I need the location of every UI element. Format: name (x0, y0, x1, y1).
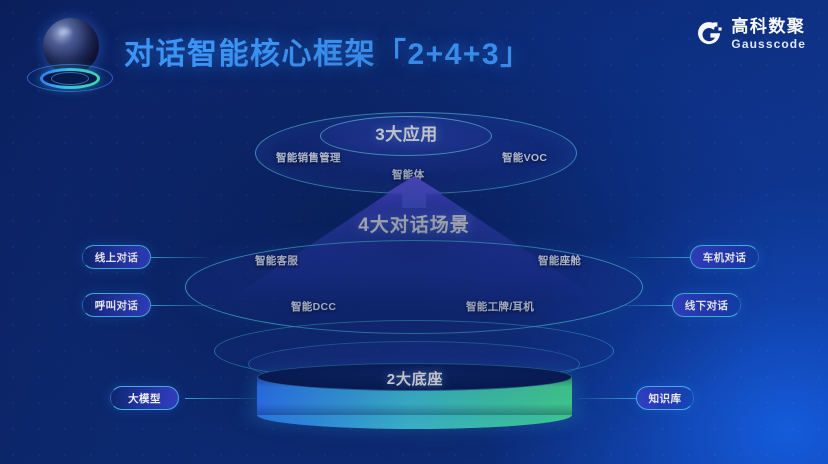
side-label-call-dialog[interactable]: 呼叫对话 (82, 293, 151, 317)
application-label-voc: 智能VOC (502, 150, 547, 165)
sphere-ring-inner (51, 72, 89, 85)
foundation-title: 2大底座 (335, 368, 495, 389)
scenario-label-customer-service: 智能客服 (255, 253, 298, 268)
connector-line-call (151, 305, 215, 306)
sphere-highlight (56, 26, 73, 37)
page-title: 对话智能核心框架「2+4+3」 (124, 29, 532, 73)
gausscode-logo-mark-icon (694, 19, 724, 49)
connector-line-online (151, 257, 207, 258)
scenario-label-badge-headset: 智能工牌/耳机 (466, 299, 534, 314)
side-label-knowledge-base[interactable]: 知识库 (636, 386, 694, 410)
slide-header: 对话智能核心框架「2+4+3」 高科数聚 Gausscode (0, 0, 828, 104)
connector-line-vehicle (628, 257, 690, 258)
scenarios-title: 4大对话场景 (334, 210, 494, 237)
brand-name-cn: 高科数聚 (731, 18, 806, 35)
connector-line-llm (185, 398, 257, 399)
glowing-sphere-icon (27, 16, 113, 98)
brand-logo-text: 高科数聚 Gausscode (731, 18, 806, 50)
side-label-large-model[interactable]: 大模型 (110, 386, 179, 410)
foundation-cylinder: 2大底座 (257, 363, 572, 429)
connector-line-knowledge (578, 398, 636, 399)
scenario-label-cockpit: 智能座舱 (538, 253, 581, 268)
slide-canvas: 对话智能核心框架「2+4+3」 高科数聚 Gausscode 3大应用 智能销售… (0, 0, 828, 464)
application-label-sales: 智能销售管理 (276, 150, 341, 165)
side-label-online-dialog[interactable]: 线上对话 (82, 245, 151, 269)
side-label-vehicle-dialog[interactable]: 车机对话 (690, 245, 759, 269)
scenario-label-dcc: 智能DCC (291, 299, 336, 314)
connector-line-offline (618, 305, 672, 306)
brand-name-en: Gausscode (731, 38, 806, 50)
applications-title: 3大应用 (349, 120, 464, 145)
brand-logo: 高科数聚 Gausscode (694, 18, 806, 50)
side-label-offline-dialog[interactable]: 线下对话 (672, 293, 741, 317)
